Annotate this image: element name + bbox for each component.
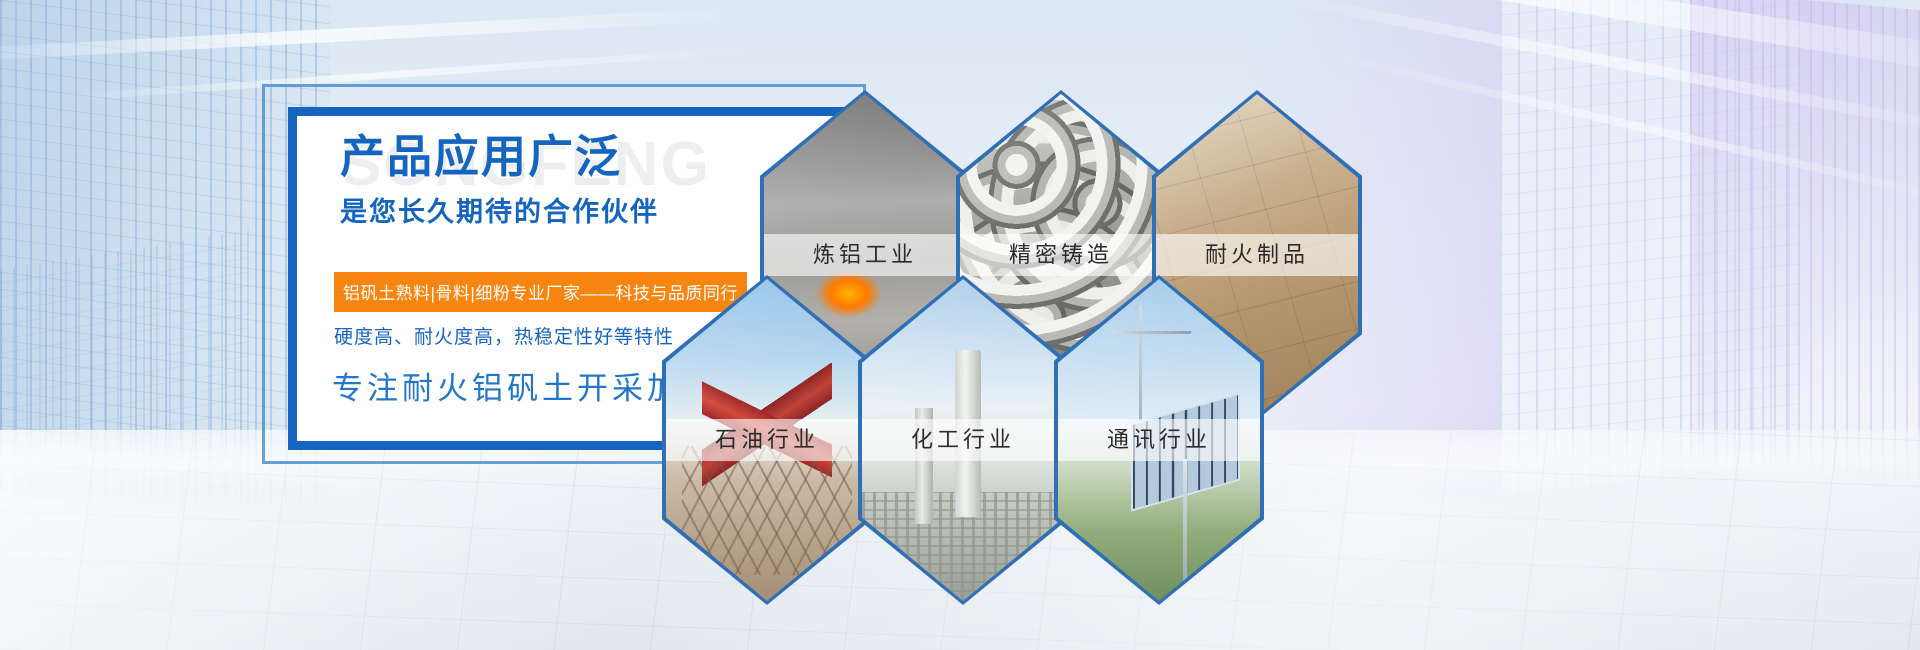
derrick-lattice-icon [682,446,852,575]
feature-text: 硬度高、耐火度高，热稳定性好等特性 [334,322,674,349]
hex-label: 精密铸造 [960,234,1162,276]
support-pole-icon [1183,459,1187,588]
hex-label: 炼铝工业 [764,234,966,276]
hex-label: 化工行业 [862,419,1064,461]
hex-label: 通讯行业 [1058,419,1260,461]
promo-banner: SONGFENG 产品应用广泛 是您长久期待的合作伙伴 铝矾土熟料|骨料|细粉专… [0,0,1920,650]
tagline-badge: 铝矾土熟料|骨料|细粉专业厂家——科技与品质同行 [334,272,747,312]
hex-label: 石油行业 [666,419,868,461]
application-hexagon-cluster: 炼铝工业 精密铸造 耐火制品 [760,80,1400,580]
glass-tower-far-right-icon [1690,0,1920,480]
antenna-arm-icon [1111,331,1192,334]
bottom-headline: 专注耐火铝矾土开采加工 [332,363,717,408]
hex-label: 耐火制品 [1156,234,1358,276]
